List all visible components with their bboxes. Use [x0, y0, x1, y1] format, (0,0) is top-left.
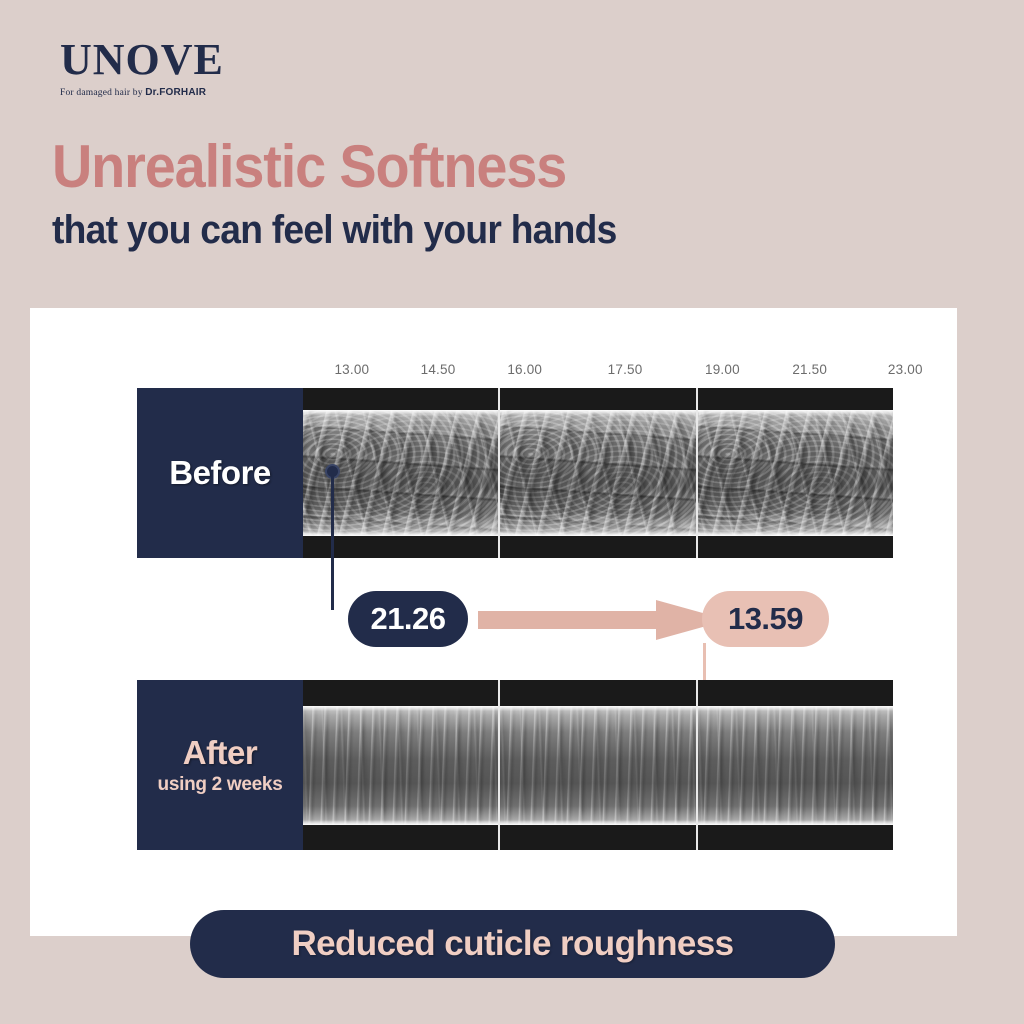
after-sem-segment-2	[500, 680, 697, 850]
before-connector-line	[331, 470, 334, 610]
headline-secondary: that you can feel with your hands	[52, 209, 889, 251]
brand-wordmark: UNOVE	[60, 38, 320, 82]
comparison-row-after: After using 2 weeks	[137, 680, 893, 850]
headline-primary: Unrealistic Softness	[52, 136, 889, 197]
after-sublabel: using 2 weeks	[158, 774, 283, 796]
result-card: 13.00 14.50 16.00 17.50 19.00 21.50 23.0…	[30, 308, 957, 936]
axis-tick-5: 21.50	[792, 362, 827, 377]
before-label: Before	[169, 454, 271, 492]
roughness-axis-scale: 13.00 14.50 16.00 17.50 19.00 21.50 23.0…	[333, 362, 923, 384]
hair-shaft	[698, 410, 893, 536]
after-sem-segment-1	[303, 680, 500, 850]
cuticle-texture	[500, 706, 697, 825]
right-arrow-icon	[478, 600, 728, 640]
before-sem-segment-3	[698, 388, 893, 558]
before-sem-segment-2	[500, 388, 697, 558]
after-sem-segment-3	[698, 680, 893, 850]
before-sem-image-strip	[303, 388, 893, 558]
hair-shaft	[303, 706, 500, 825]
axis-tick-4: 19.00	[705, 362, 740, 377]
conclusion-text: Reduced cuticle roughness	[291, 924, 733, 964]
brand-tagline-prefix: For damaged hair by	[60, 88, 145, 98]
brand-tagline-partner: Dr.FORHAIR	[145, 87, 206, 98]
cuticle-texture	[698, 706, 893, 825]
axis-tick-2: 16.00	[507, 362, 542, 377]
brand-tagline: For damaged hair by Dr.FORHAIR	[60, 87, 320, 98]
before-label-panel: Before	[137, 388, 303, 558]
axis-tick-3: 17.50	[608, 362, 643, 377]
axis-tick-0: 13.00	[334, 362, 369, 377]
brand-logo: UNOVE For damaged hair by Dr.FORHAIR	[60, 38, 320, 98]
hair-shaft	[500, 706, 697, 825]
headline-block: Unrealistic Softness that you can feel w…	[52, 136, 952, 251]
after-sem-image-strip	[303, 680, 893, 850]
after-value-badge: 13.59	[702, 591, 829, 647]
hair-shaft	[698, 706, 893, 825]
cuticle-texture-detail	[500, 410, 697, 536]
axis-tick-6: 23.00	[888, 362, 923, 377]
axis-tick-1: 14.50	[421, 362, 456, 377]
hair-shaft	[500, 410, 697, 536]
after-label: After	[183, 734, 258, 772]
cuticle-texture-detail	[698, 410, 893, 536]
cuticle-texture	[303, 706, 500, 825]
before-value-badge: 21.26	[348, 591, 468, 647]
comparison-row-before: Before	[137, 388, 893, 558]
after-label-panel: After using 2 weeks	[137, 680, 303, 850]
conclusion-banner: Reduced cuticle roughness	[190, 910, 835, 978]
